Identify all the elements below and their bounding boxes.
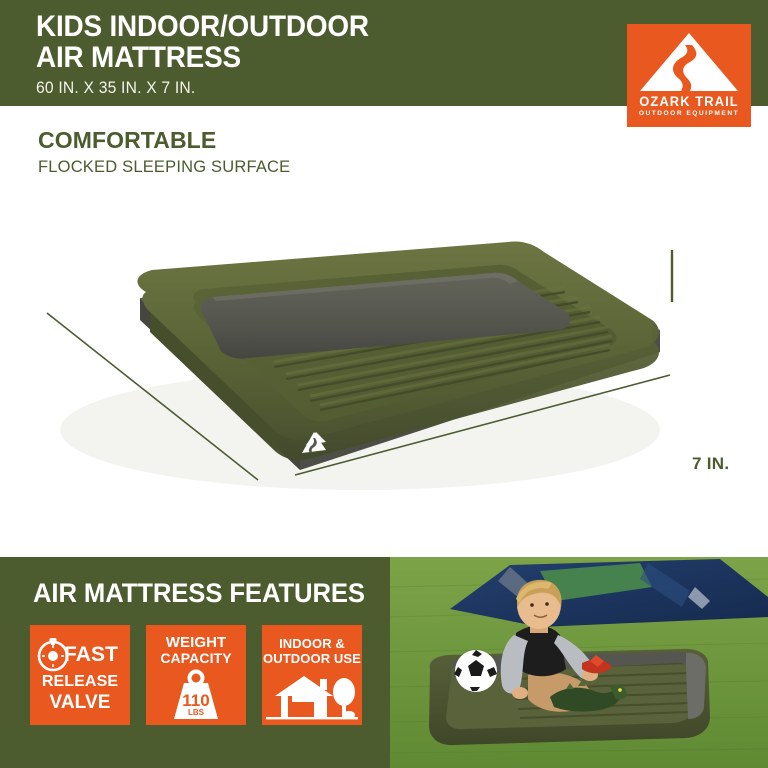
tile-2-line-1: WEIGHT (146, 635, 246, 650)
tile-1-line-2: RELEASE (30, 673, 130, 690)
comfort-subhead: FLOCKED SLEEPING SURFACE (38, 157, 290, 177)
product-dimensions-text: 60 IN. X 35 IN. X 7 IN. (36, 78, 568, 98)
ozark-trail-logo: OZARK TRAIL OUTDOOR EQUIPMENT (627, 24, 751, 127)
product-hero-image: 60 IN. 35 IN. 7 IN. (0, 180, 768, 557)
house-and-tree-icon (262, 672, 362, 724)
product-infographic: KIDS INDOOR/OUTDOOR AIR MATTRESS 60 IN. … (0, 0, 768, 768)
weight-block-icon: 110 LBS (146, 669, 246, 725)
tile-3-line-1: INDOOR & (262, 637, 362, 651)
air-mattress-illustration (0, 180, 768, 557)
weight-unit: LBS (188, 708, 205, 717)
mountain-trail-logo-icon (637, 31, 741, 93)
feature-tile-weight-capacity: WEIGHT CAPACITY 110 LBS (146, 625, 246, 725)
header-band: KIDS INDOOR/OUTDOOR AIR MATTRESS 60 IN. … (0, 0, 768, 106)
feature-tile-fast-release-valve: FAST RELEASE VALVE (30, 625, 130, 725)
logo-tagline: OUTDOOR EQUIPMENT (627, 110, 751, 117)
features-heading: AIR MATTRESS FEATURES (33, 578, 365, 609)
tile-1-line-3: VALVE (30, 693, 130, 713)
product-title-line-1: KIDS INDOOR/OUTDOOR (36, 11, 557, 42)
comfort-headline: COMFORTABLE (38, 128, 290, 153)
logo-wordmark: OZARK TRAIL (629, 94, 748, 109)
comfort-block: COMFORTABLE FLOCKED SLEEPING SURFACE (38, 128, 290, 177)
dimension-label-height: 7 IN. (692, 454, 729, 474)
tile-3-line-2: OUTDOOR USE (262, 652, 362, 666)
tile-1-line-1: FAST (64, 644, 126, 666)
feature-tile-indoor-outdoor: INDOOR & OUTDOOR USE (262, 625, 362, 725)
tile-2-line-2: CAPACITY (146, 651, 246, 665)
title-block: KIDS INDOOR/OUTDOOR AIR MATTRESS 60 IN. … (36, 11, 596, 98)
lifestyle-photo (390, 557, 768, 768)
boy-on-air-mattress-photo (390, 557, 768, 768)
product-title-line-2: AIR MATTRESS (36, 42, 557, 73)
